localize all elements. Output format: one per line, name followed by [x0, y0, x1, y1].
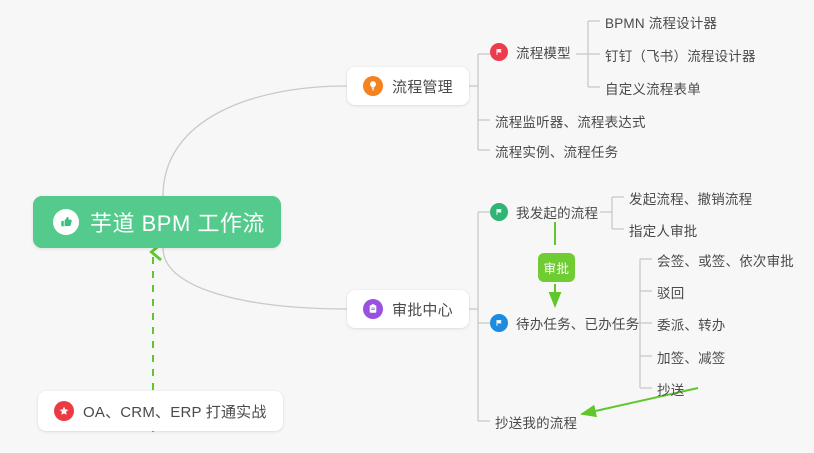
leaf-listener-expression[interactable]: 流程监听器、流程表达式	[490, 111, 651, 136]
leaf-add-remove-sign[interactable]: 加签、减签	[652, 347, 731, 372]
node-todo-done-tasks[interactable]: 待办任务、已办任务	[490, 313, 639, 338]
leaf-bpmn-designer[interactable]: BPMN 流程设计器	[600, 12, 722, 37]
bottom-node-label: OA、CRM、ERP 打通实战	[83, 401, 267, 422]
approval-badge: 审批	[538, 253, 575, 282]
flag-icon	[490, 43, 508, 61]
leaf-cc-my-process[interactable]: 抄送我的流程	[490, 412, 582, 437]
flag-icon	[490, 314, 508, 332]
node-process-model[interactable]: 流程模型	[490, 42, 571, 67]
lightbulb-icon	[363, 76, 383, 96]
leaf-reject[interactable]: 驳回	[652, 282, 689, 307]
leaf-countersign[interactable]: 会签、或签、依次审批	[652, 250, 799, 275]
leaf-instance-task[interactable]: 流程实例、流程任务	[490, 141, 623, 166]
leaf-cc[interactable]: 抄送	[652, 379, 689, 404]
leaf-custom-process-form[interactable]: 自定义流程表单	[600, 78, 706, 103]
thumbs-up-icon	[53, 209, 79, 235]
root-label: 芋道 BPM 工作流	[90, 206, 265, 238]
edge-root-to-process-management	[163, 86, 347, 196]
star-icon	[54, 401, 74, 421]
branch-label: 审批中心	[392, 299, 453, 320]
leaf-delegate-transfer[interactable]: 委派、转办	[652, 314, 731, 339]
leaf-assignee-approve[interactable]: 指定人审批	[624, 220, 703, 245]
bottom-node-oa-crm-erp[interactable]: OA、CRM、ERP 打通实战	[38, 391, 283, 431]
leaf-dingtalk-feishu-designer[interactable]: 钉钉（飞书）流程设计器	[600, 45, 761, 70]
clipboard-icon	[363, 299, 383, 319]
node-label: 流程模型	[516, 42, 571, 62]
node-label: 我发起的流程	[516, 202, 598, 222]
branch-approval-center[interactable]: 审批中心	[347, 290, 469, 328]
flag-icon	[490, 203, 508, 221]
mindmap-canvas: 芋道 BPM 工作流 流程管理 流程模型 BPMN 流程设计器 钉钉（飞书）流程…	[0, 0, 814, 453]
root-node[interactable]: 芋道 BPM 工作流	[33, 196, 281, 248]
leaf-start-cancel[interactable]: 发起流程、撤销流程	[624, 188, 757, 213]
node-my-initiated[interactable]: 我发起的流程	[490, 202, 598, 227]
node-label: 待办任务、已办任务	[516, 313, 639, 333]
branch-process-management[interactable]: 流程管理	[347, 67, 469, 105]
branch-label: 流程管理	[392, 76, 453, 97]
edge-root-to-approval-center	[163, 248, 347, 309]
